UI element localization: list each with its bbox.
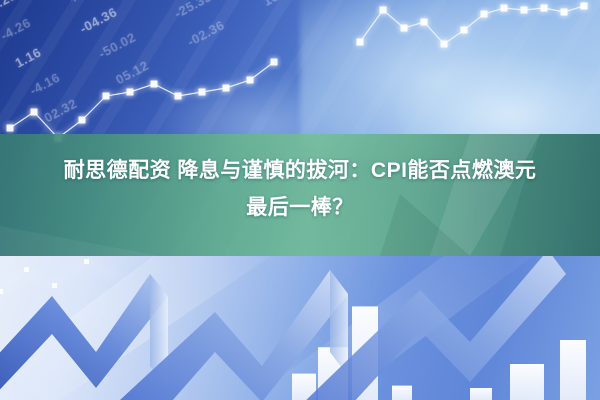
- ticker-number-field: -0.05 2.06 -11.25 +5.02 21.05 -1.25 +4.2…: [0, 0, 600, 157]
- ticker-row: -1.25 +4.26 -02.36 45.02 8.12: [0, 0, 600, 21]
- ticker-value: 02.32: [42, 96, 80, 126]
- ticker-row: 02.32 05.12 -02.36 13.36 3.05: [33, 0, 600, 130]
- ticker-value: 05.12: [113, 58, 151, 88]
- ticker-value: -02.36: [185, 17, 227, 49]
- ticker-row: -4.26 +6.02 -50.02 4.36 22.31: [0, 0, 600, 48]
- ticker-value: 13.36: [261, 0, 299, 9]
- lower-graphic-section: [0, 256, 600, 400]
- ticker-value: -1.25: [0, 0, 19, 16]
- ticker-value: -25.33: [172, 0, 214, 21]
- headline-line-1: 耐思德配资 降息与谨慎的拔河：CPI能否点燃澳元: [0, 152, 600, 189]
- ticker-value: +6.02: [67, 0, 105, 7]
- glowing-line-chart: [0, 0, 600, 175]
- chart-graphics: [0, 256, 600, 400]
- ticker-value: -50.02: [96, 29, 138, 61]
- financial-news-banner: -0.05 2.06 -11.25 +5.02 21.05 -1.25 +4.2…: [0, 0, 600, 400]
- cloud-shape-right: [300, 0, 600, 160]
- ticker-row: -4.16 -50.02 -25.33 02.32 9.36: [18, 0, 600, 103]
- ticker-value: -4.16: [27, 70, 62, 98]
- page-title: 耐思德配资 降息与谨慎的拔河：CPI能否点燃澳元 最后一棒？: [0, 152, 600, 226]
- ticker-value: 1.16: [12, 45, 43, 71]
- ticker-value: -04.36: [77, 4, 119, 36]
- ticker-row: 1.16 -04.36 -26.32 10.02 1.06: [4, 0, 600, 75]
- ticker-value: -4.26: [0, 15, 33, 43]
- headline-line-2: 最后一棒？: [0, 189, 600, 226]
